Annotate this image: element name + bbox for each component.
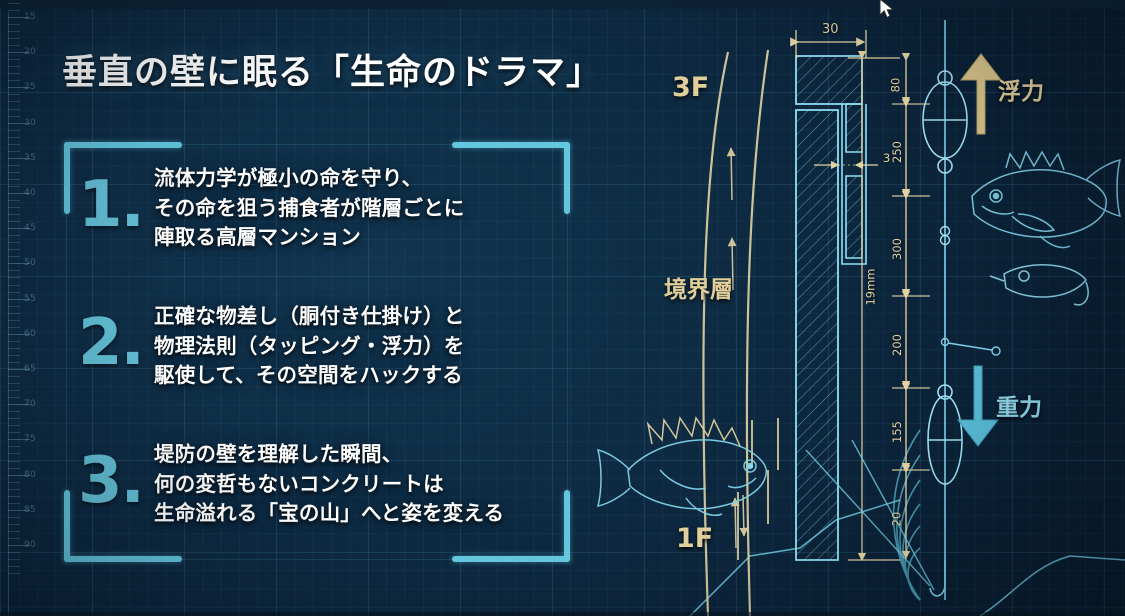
ruler-tick-minor (8, 249, 20, 250)
dimension-label-80: 80 (888, 78, 902, 93)
ruler-tick-minor (8, 256, 20, 257)
list-item-line: 流体力学が極小の命を守り、 (154, 164, 578, 194)
ruler-tick-minor (8, 235, 20, 236)
force-label-buoyancy: 浮力 (998, 72, 1044, 106)
presentation-slide: 15202530354045505560657075808590 垂直の壁に眠る… (0, 0, 1125, 616)
ruler-tick-minor (8, 362, 20, 363)
ruler-tick-minor (8, 221, 20, 222)
ruler-label: 55 (24, 294, 36, 304)
ruler-tick-minor (8, 101, 20, 102)
list-item-line: 駆使して、その空間をハックする (154, 361, 578, 391)
force-label-gravity: 重力 (996, 388, 1042, 422)
list-item-text: 堤防の壁を理解した瞬間、 何の変哲もないコンクリートは 生命溢れる「宝の山」へと… (154, 434, 578, 529)
ruler-tick-minor (8, 489, 20, 490)
ruler-tick-minor (8, 341, 20, 342)
ruler-tick-minor (8, 200, 20, 201)
ruler-tick-minor (8, 66, 20, 67)
ruler-tick-minor (8, 38, 20, 39)
ruler-tick-minor (8, 418, 20, 419)
ruler-tick-minor (8, 3, 20, 4)
dimension-label-20: 20 (889, 512, 903, 527)
downward-flow-arrow (743, 495, 744, 536)
ruler-tick-minor (8, 468, 20, 469)
ruler-tick-minor (8, 573, 20, 574)
ruler-tick-minor (8, 10, 20, 11)
ruler-label: 65 (24, 364, 36, 374)
ruler-tick-minor (8, 425, 20, 426)
list-item-line: 生命溢れる「宝の山」へと姿を変える (154, 499, 578, 529)
ruler-label: 80 (24, 470, 36, 480)
ruler-tick-minor (8, 165, 20, 166)
ruler-tick-minor (8, 390, 20, 391)
ruler-tick-minor (8, 355, 20, 356)
bracket-corner-bottom-left-v (64, 490, 70, 562)
seabed-contour (690, 500, 1125, 616)
list-item-text: 流体力学が極小の命を守り、 その命を狙う捕食者が階層ごとに 陣取る高層マンション (154, 158, 578, 253)
ruler-label: 70 (24, 399, 36, 409)
ruler-tick-minor (8, 59, 20, 60)
vertical-ruler: 15202530354045505560657075808590 (0, 0, 44, 616)
boundary-layer-label: 境界層 (664, 270, 733, 304)
terminal-hook (930, 560, 945, 596)
ruler-tick-minor (8, 411, 20, 412)
ruler-tick-minor (8, 179, 20, 180)
ruler-tick-minor (8, 327, 20, 328)
ruler-tick-minor (8, 172, 20, 173)
list-item: 3. 堤防の壁を理解した瞬間、 何の変哲もないコンクリートは 生命溢れる「宝の山… (78, 434, 578, 546)
ruler-label: 40 (24, 188, 36, 198)
page-title: 垂直の壁に眠る「生命のドラマ」 (62, 44, 602, 95)
ruler-label: 85 (24, 505, 36, 515)
dimension-label-19mm: 19mm (864, 268, 878, 305)
ruler-tick-minor (8, 137, 20, 138)
list-item-line: その命を狙う捕食者が階層ごとに (154, 194, 578, 224)
bottom-edge-bar (0, 612, 1125, 616)
ruler-tick-minor (8, 24, 20, 25)
dimension-label-155: 155 (890, 421, 904, 443)
list-item-line: 正確な物差し（胴付き仕掛け）と (154, 302, 578, 332)
ruler-label: 45 (24, 223, 36, 233)
dimension-label-250: 250 (890, 141, 904, 163)
ruler-label: 20 (24, 47, 36, 57)
ruler-tick-minor (8, 306, 20, 307)
list-item-line: 陣取る高層マンション (154, 223, 578, 253)
bracket-corner-top-left-h (64, 142, 182, 148)
list-item: 1. 流体力学が極小の命を守り、 その命を狙う捕食者が階層ごとに 陣取る高層マン… (78, 158, 578, 270)
ruler-tick-minor (8, 552, 20, 553)
ruler-tick-minor (8, 270, 20, 271)
ruler-tick-minor (8, 348, 20, 349)
technical-diagram: 3F 境界層 1F 30 3 19mm 80 250 300 200 155 2… (600, 0, 1125, 616)
list-item: 2. 正確な物差し（胴付き仕掛け）と 物理法則（タッピング・浮力）を 駆使して、… (78, 296, 578, 408)
ruler-tick-minor (8, 207, 20, 208)
list-item-number: 3. (78, 452, 154, 511)
ruler-tick-minor (8, 45, 20, 46)
ruler-tick-minor (8, 432, 20, 433)
branch-line (942, 339, 1001, 356)
lure-icon (990, 265, 1088, 305)
ruler-label: 50 (24, 258, 36, 268)
ruler-tick-minor (8, 214, 20, 215)
ruler-label: 60 (24, 329, 36, 339)
ruler-label: 35 (24, 153, 36, 163)
list-item-line: 何の変哲もないコンクリートは (154, 470, 578, 500)
concrete-wall-section (796, 56, 866, 560)
floor-label-3f: 3F (672, 72, 709, 103)
ruler-tick-minor (8, 446, 20, 447)
ruler-tick-minor (8, 461, 20, 462)
ruler-label: 25 (24, 82, 36, 92)
ruler-tick-minor (8, 524, 20, 525)
ruler-tick-minor (8, 566, 20, 567)
ruler-tick-minor (8, 538, 20, 539)
fish-icon-upper (972, 152, 1120, 248)
ruler-tick-minor (8, 277, 20, 278)
ruler-label: 75 (24, 434, 36, 444)
fish-icon-lower (598, 440, 766, 515)
ruler-tick-minor (8, 31, 20, 32)
ruler-tick-minor (8, 397, 20, 398)
dimension-label-200: 200 (890, 334, 904, 356)
ruler-tick-minor (8, 73, 20, 74)
ruler-tick-minor (8, 144, 20, 145)
list-item-number: 2. (78, 314, 154, 373)
list-item-number: 1. (78, 176, 154, 235)
dimension-label-30: 30 (822, 22, 839, 37)
bracket-corner-top-right-h (452, 142, 570, 148)
ruler-tick-minor (8, 242, 20, 243)
ruler-tick-minor (8, 503, 20, 504)
list-item-text: 正確な物差し（胴付き仕掛け）と 物理法則（タッピング・浮力）を 駆使して、その空… (154, 296, 578, 391)
ruler-tick-minor (8, 482, 20, 483)
ruler-tick-minor (8, 151, 20, 152)
ruler-tick-minor (8, 531, 20, 532)
ruler-tick-minor (8, 559, 20, 560)
list-item-line: 物理法則（タッピング・浮力）を (154, 332, 578, 362)
ruler-tick-minor (8, 320, 20, 321)
ruler-tick-minor (8, 496, 20, 497)
ruler-tick-minor (8, 292, 20, 293)
ruler-tick-minor (8, 517, 20, 518)
dimension-label-300: 300 (890, 238, 904, 260)
ruler-label: 15 (24, 12, 36, 22)
ruler-tick-minor (8, 116, 20, 117)
key-points-list: 1. 流体力学が極小の命を守り、 その命を狙う捕食者が階層ごとに 陣取る高層マン… (78, 158, 578, 572)
bracket-corner-top-left-v (64, 142, 70, 214)
ruler-tick-minor (8, 130, 20, 131)
floor-label-1f: 1F (676, 523, 713, 554)
ruler-label: 30 (24, 118, 36, 128)
ruler-spine (8, 12, 9, 616)
ruler-tick-minor (8, 94, 20, 95)
ruler-tick-minor (8, 313, 20, 314)
ruler-tick-minor (8, 285, 20, 286)
ruler-tick-minor (8, 453, 20, 454)
ruler-tick-minor (8, 376, 20, 377)
ruler-label: 90 (24, 540, 36, 550)
bracket-edge-left (66, 212, 67, 492)
ruler-tick-minor (8, 80, 20, 81)
bracket-edge-top (176, 144, 458, 145)
ruler-tick-minor (8, 109, 20, 110)
ruler-tick-minor (8, 383, 20, 384)
ruler-tick-minor (8, 186, 20, 187)
list-item-line: 堤防の壁を理解した瞬間、 (154, 440, 578, 470)
